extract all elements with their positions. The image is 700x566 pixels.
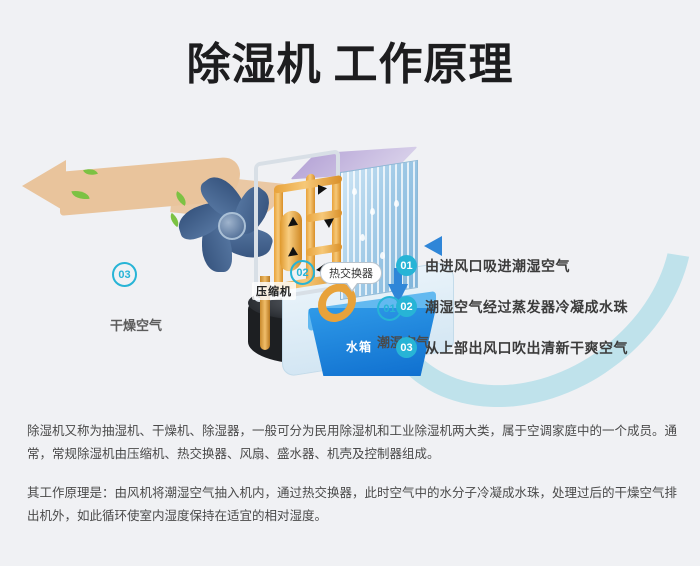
legend-text-02: 潮湿空气经过蒸发器冷凝成水珠 — [425, 297, 628, 317]
legend-item-03: 03 从上部出风口吹出清新干爽空气 — [396, 337, 686, 358]
legend-text-03: 从上部出风口吹出清新干爽空气 — [425, 338, 628, 358]
page-title-part1: 除湿机 — [187, 40, 322, 89]
water-droplet — [352, 188, 357, 195]
heat-exchanger-badge: 02 — [290, 260, 315, 285]
legend-badge-01: 01 — [396, 255, 417, 276]
moist-air-band-fade — [560, 130, 680, 250]
dry-air-callout: 03 干燥空气 — [112, 262, 162, 334]
legend-text-01: 由进风口吸进潮湿空气 — [425, 256, 570, 276]
page-title-part2: 工作原理 — [334, 40, 514, 89]
dry-air-label: 干燥空气 — [110, 315, 162, 334]
flow-arrow-up-icon — [288, 216, 298, 227]
water-droplet — [370, 208, 375, 215]
water-tank-label: 水箱 — [346, 338, 372, 355]
fan-hub — [218, 212, 246, 240]
legend-badge-02: 02 — [396, 296, 417, 317]
heat-exchanger-callout: 02 热交换器 — [290, 260, 382, 285]
flow-arrow-down-icon — [324, 218, 334, 229]
legend-item-02: 02 潮湿空气经过蒸发器冷凝成水珠 — [396, 296, 686, 317]
description-text: 除湿机又称为抽湿机、干燥机、除湿器，一般可分为民用除湿机和工业除湿机两大类，属于… — [27, 420, 677, 528]
dry-air-arrow-head — [22, 160, 66, 212]
legend-badge-03: 03 — [396, 337, 417, 358]
water-droplet — [394, 200, 399, 207]
water-droplet — [360, 234, 365, 241]
description-paragraph-2: 其工作原理是：由风机将潮湿空气抽入机内，通过热交换器，此时空气中的水分子冷凝成水… — [27, 482, 677, 528]
water-droplet — [380, 252, 385, 259]
description-paragraph-1: 除湿机又称为抽湿机、干燥机、除湿器，一般可分为民用除湿机和工业除湿机两大类，属于… — [27, 420, 677, 466]
heat-exchanger-label: 热交换器 — [320, 262, 382, 284]
legend-item-01: 01 由进风口吸进潮湿空气 — [396, 255, 686, 276]
legend-list: 01 由进风口吸进潮湿空气 02 潮湿空气经过蒸发器冷凝成水珠 03 从上部出风… — [396, 255, 686, 378]
page-title: 除湿机工作原理 — [0, 28, 700, 92]
flow-arrow-up-icon — [288, 246, 298, 257]
flow-arrow-right-icon — [318, 183, 327, 194]
intake-airflow-arrow-icon — [424, 236, 442, 256]
dry-air-badge: 03 — [112, 262, 137, 287]
